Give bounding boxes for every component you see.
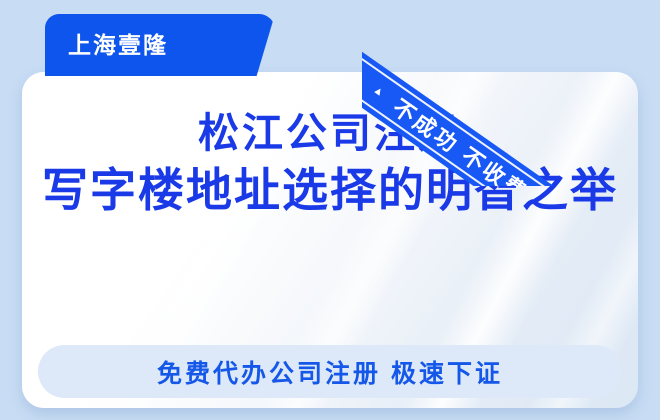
- footer-pill[interactable]: 免费代办公司注册 极速下证: [38, 345, 622, 398]
- headline-line-2: 写字楼地址选择的明智之举: [22, 160, 638, 221]
- content-card: 松江公司注册 写字楼地址选择的明智之举 免费代办公司注册 极速下证: [22, 72, 638, 408]
- promo-banner: 上海壹隆 松江公司注册 写字楼地址选择的明智之举 免费代办公司注册 极速下证 ▲…: [0, 0, 660, 420]
- brand-tab-label: 上海壹隆: [68, 34, 168, 57]
- footer-pill-label: 免费代办公司注册 极速下证: [157, 354, 503, 390]
- headline-block: 松江公司注册 写字楼地址选择的明智之举: [22, 106, 638, 221]
- headline-line-1: 松江公司注册: [22, 106, 638, 160]
- brand-tab[interactable]: 上海壹隆: [45, 14, 275, 76]
